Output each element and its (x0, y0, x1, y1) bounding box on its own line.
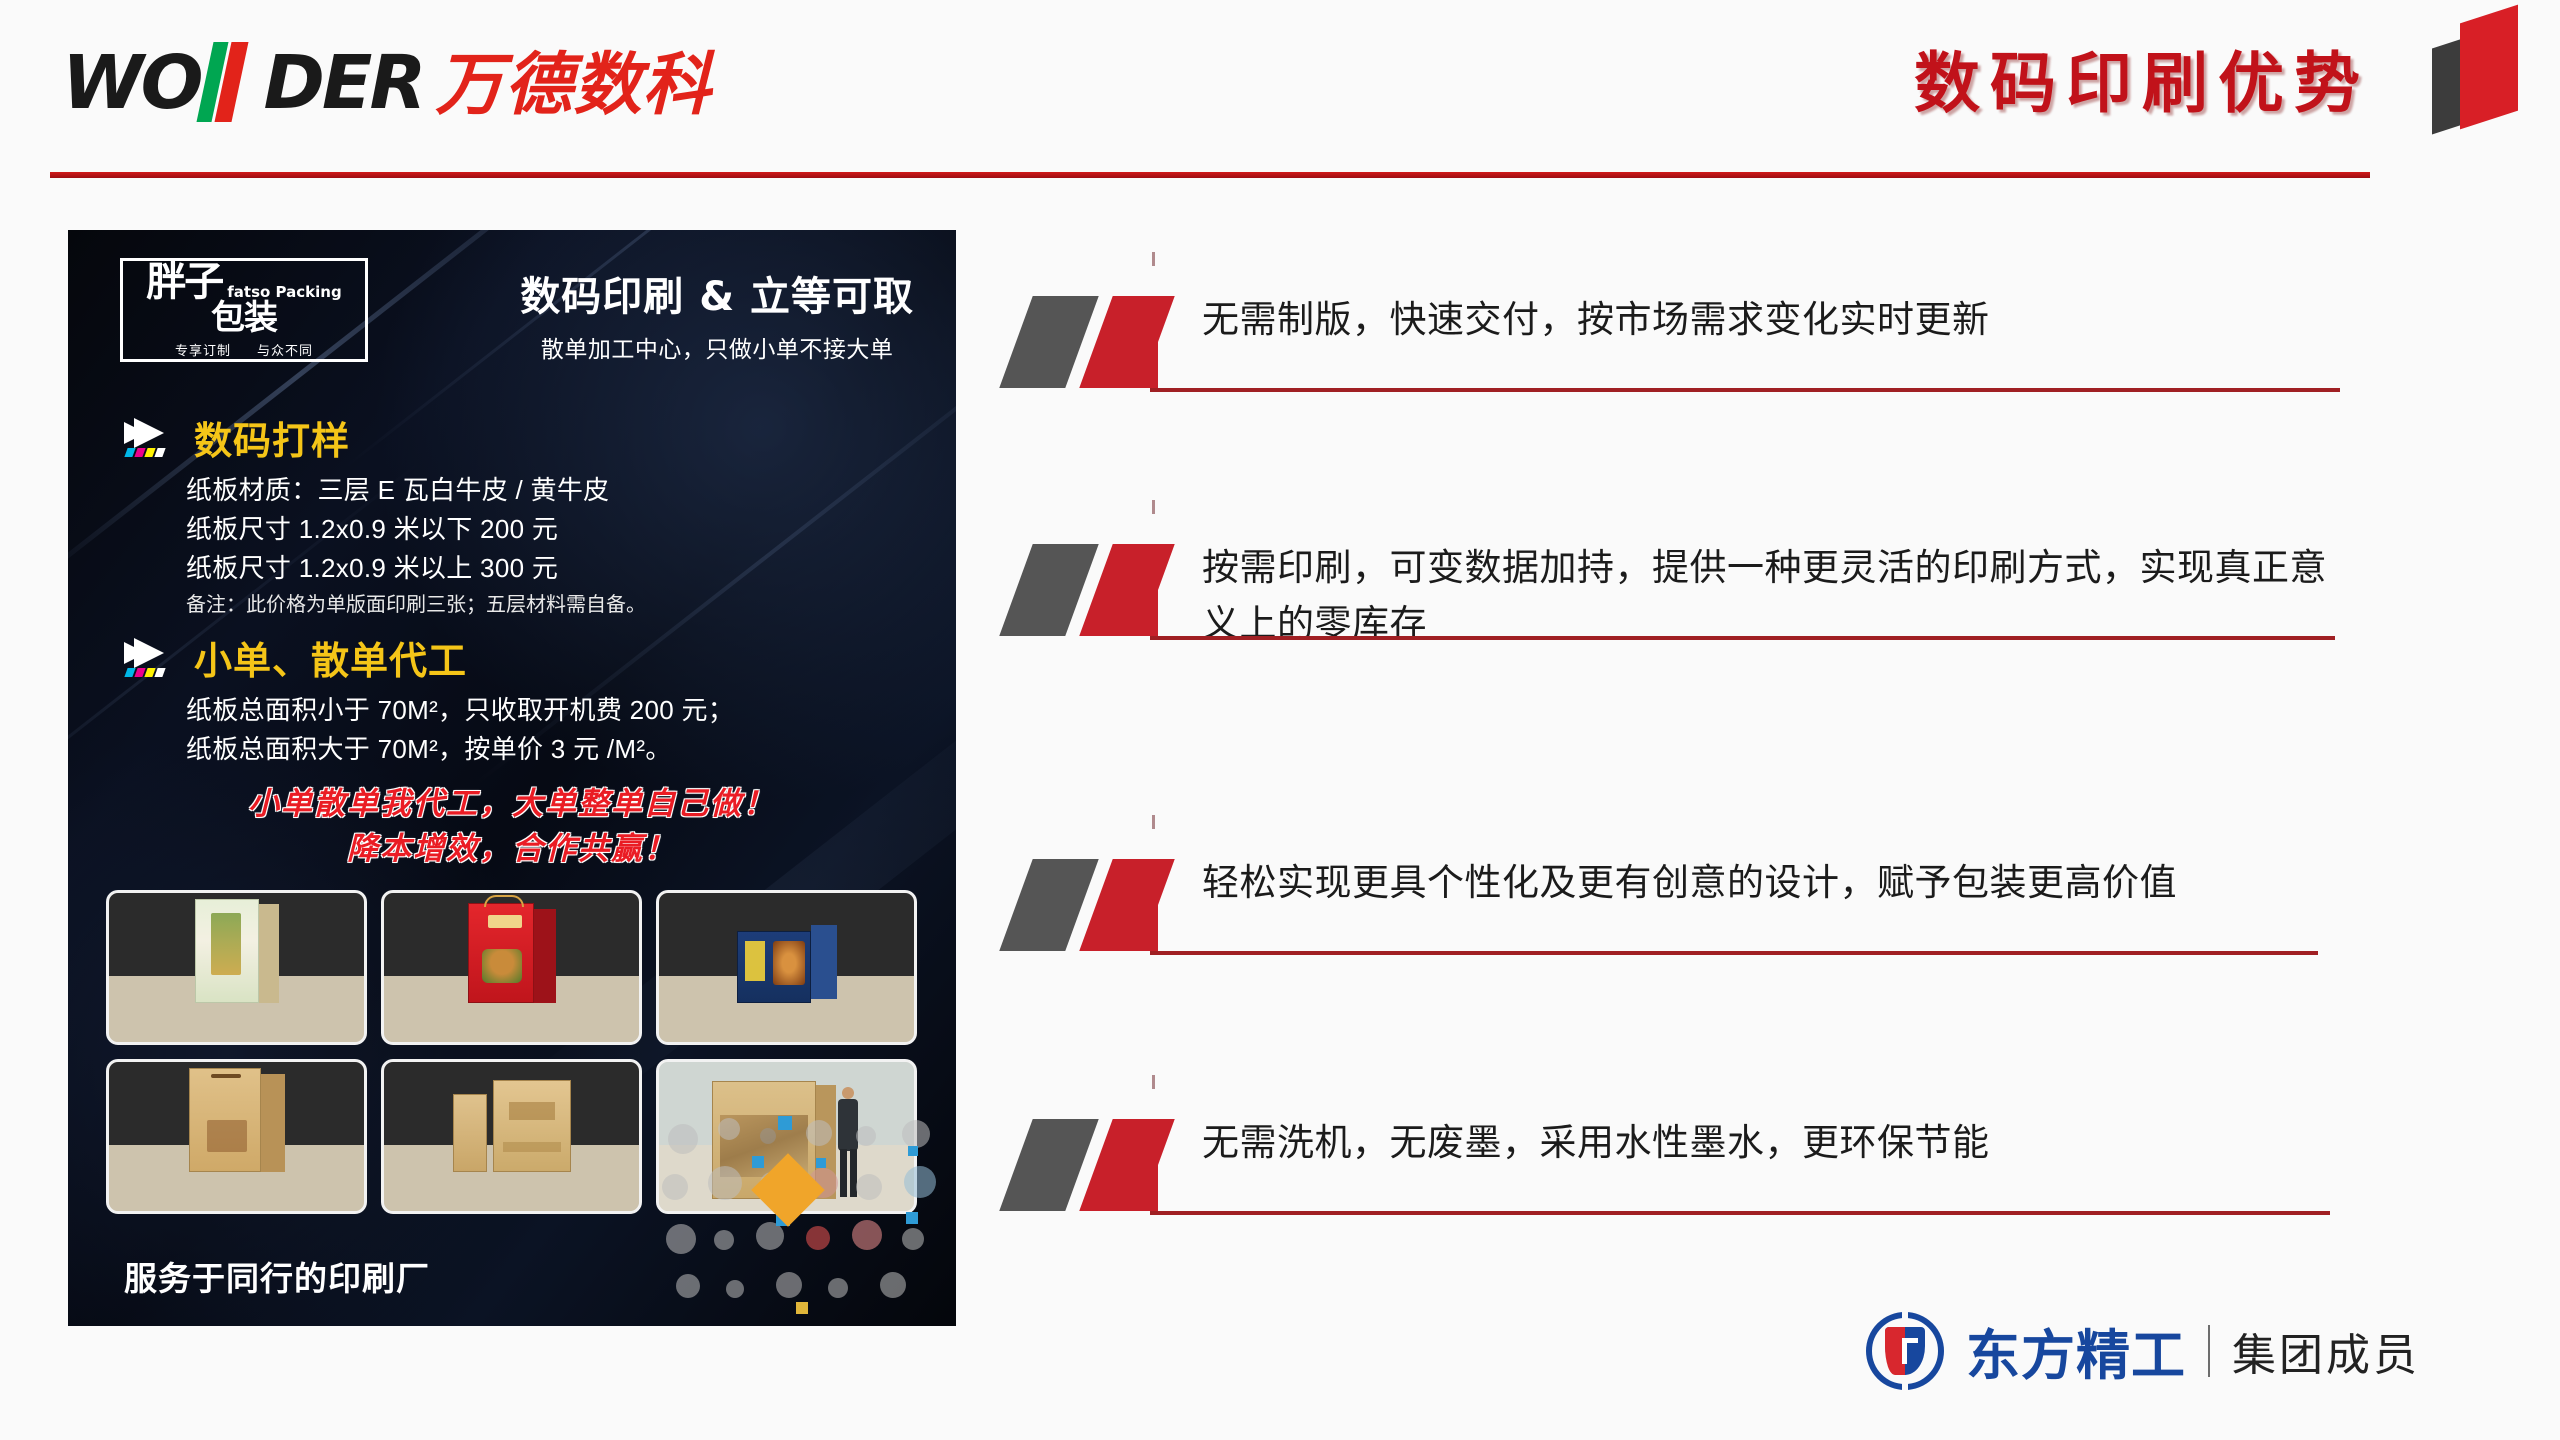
bullet-text: 轻松实现更具个性化及更有创意的设计，赋予包装更高价值 (1202, 855, 2340, 911)
wonder-letter-n: N (201, 46, 264, 120)
wonder-text-wo: WO (62, 46, 201, 120)
wonder-text-der: DER (263, 46, 423, 120)
poster-slogan-line-2: 降本增效，合作共赢！ (68, 827, 956, 872)
corner-ribbon-decoration (2430, 0, 2538, 128)
poster-section-title: 小单、散单代工 (194, 630, 467, 685)
poster-slogan: 小单散单我代工，大单整单自己做！ 降本增效，合作共赢！ (68, 782, 956, 872)
poster-section-line: 纸板总面积大于 70M²，按单价 3 元 /M²。 (124, 730, 924, 769)
brand-logo: WO N DER 万德数科 (62, 42, 711, 120)
fatso-logo-cn: 胖子 (146, 263, 222, 301)
bullet-underline (1150, 1211, 2330, 1215)
chevron-arrow-icon (124, 636, 180, 680)
poster-section-oem: 小单、散单代工 纸板总面积小于 70M²，只收取开机费 200 元； 纸板总面积… (124, 630, 924, 769)
bullet-underline (1150, 388, 2340, 392)
bullet-marker-icon (1000, 540, 1190, 640)
poster-caption: 服务于同行的印刷厂 (124, 1252, 430, 1300)
poster-section-line: 纸板尺寸 1.2x0.9 米以上 300 元 (124, 549, 924, 588)
wonder-wordmark: WO N DER 万德数科 (62, 46, 711, 120)
fatso-packing-logo: 胖子 fatso Packing 包装 专享订制 与众不同 (120, 258, 368, 362)
product-photo-red-chicken-box (381, 890, 642, 1045)
poster-slogan-line-1: 小单散单我代工，大单整单自己做！ (68, 782, 956, 827)
fatso-logo-baozhuang: 包装 (211, 301, 277, 335)
product-photo-classic-kraft-pair (381, 1059, 642, 1214)
header-divider (50, 172, 2370, 178)
poster-dot-pattern-decoration (656, 1116, 956, 1326)
bullet-marker-icon (1000, 292, 1190, 392)
bullet-text: 无需制版，快速交付，按市场需求变化实时更新 (1202, 292, 2340, 348)
footer-member-label: 集团成员 (2232, 1319, 2420, 1383)
poster-section-line: 纸板总面积小于 70M²，只收取开机费 200 元； (124, 691, 924, 730)
bullet-marker-icon (1000, 855, 1190, 955)
bullet-tick-mark (1152, 252, 1155, 266)
poster-section-title: 数码打样 (194, 410, 350, 465)
product-photo-honey-gift-box (106, 890, 367, 1045)
poster-section-line: 纸板尺寸 1.2x0.9 米以下 200 元 (124, 510, 924, 549)
poster-headline-block: 数码印刷 & 立等可取 散单加工中心，只做小单不接大单 (520, 264, 914, 364)
fatso-logo-sub-right: 与众不同 (257, 340, 313, 359)
bullet-underline (1150, 636, 2335, 640)
poster-header: 胖子 fatso Packing 包装 专享订制 与众不同 数码印刷 & 立等可… (68, 248, 956, 368)
corner-red-shape (2460, 5, 2518, 130)
bullet-text: 无需洗机，无废墨，采用水性墨水，更环保节能 (1202, 1115, 2340, 1171)
bullet-tick-mark (1152, 815, 1155, 829)
product-photo-beef-dumpling-box (656, 890, 917, 1045)
poster-subheadline: 散单加工中心，只做小单不接大单 (520, 330, 914, 364)
footer-group-logo: 东方精工 集团成员 (1866, 1311, 2420, 1390)
poster-headline: 数码印刷 & 立等可取 (520, 264, 914, 322)
bullet-marker-icon (1000, 1115, 1190, 1215)
slide-canvas: WO N DER 万德数科 数码印刷优势 胖子 fatso Packing (0, 0, 2560, 1440)
wonder-text-cn: 万德数科 (435, 52, 711, 120)
poster-section-note: 备注：此价格为单版面印刷三张；五层材料需自备。 (124, 590, 924, 620)
poster-section-proofing: 数码打样 纸板材质：三层 E 瓦白牛皮 / 黄牛皮 纸板尺寸 1.2x0.9 米… (124, 410, 924, 620)
fatso-logo-sub-left: 专享订制 (175, 340, 231, 359)
page-title: 数码印刷优势 (1914, 48, 2370, 121)
bullet-tick-mark (1152, 500, 1155, 514)
footer-company-name: 东方精工 (1966, 1311, 2186, 1390)
promo-poster-image: 胖子 fatso Packing 包装 专享订制 与众不同 数码印刷 & 立等可… (68, 230, 956, 1326)
footer-divider (2208, 1325, 2210, 1377)
product-photo-kraft-handle-box (106, 1059, 367, 1214)
bullet-underline (1150, 951, 2318, 955)
bullet-tick-mark (1152, 1075, 1155, 1089)
poster-section-line: 纸板材质：三层 E 瓦白牛皮 / 黄牛皮 (124, 471, 924, 510)
bullet-text: 按需印刷，可变数据加持，提供一种更灵活的印刷方式，实现真正意义上的零库存 (1202, 540, 2340, 651)
chevron-arrow-icon (124, 416, 180, 460)
dongfang-emblem-icon (1866, 1312, 1944, 1390)
